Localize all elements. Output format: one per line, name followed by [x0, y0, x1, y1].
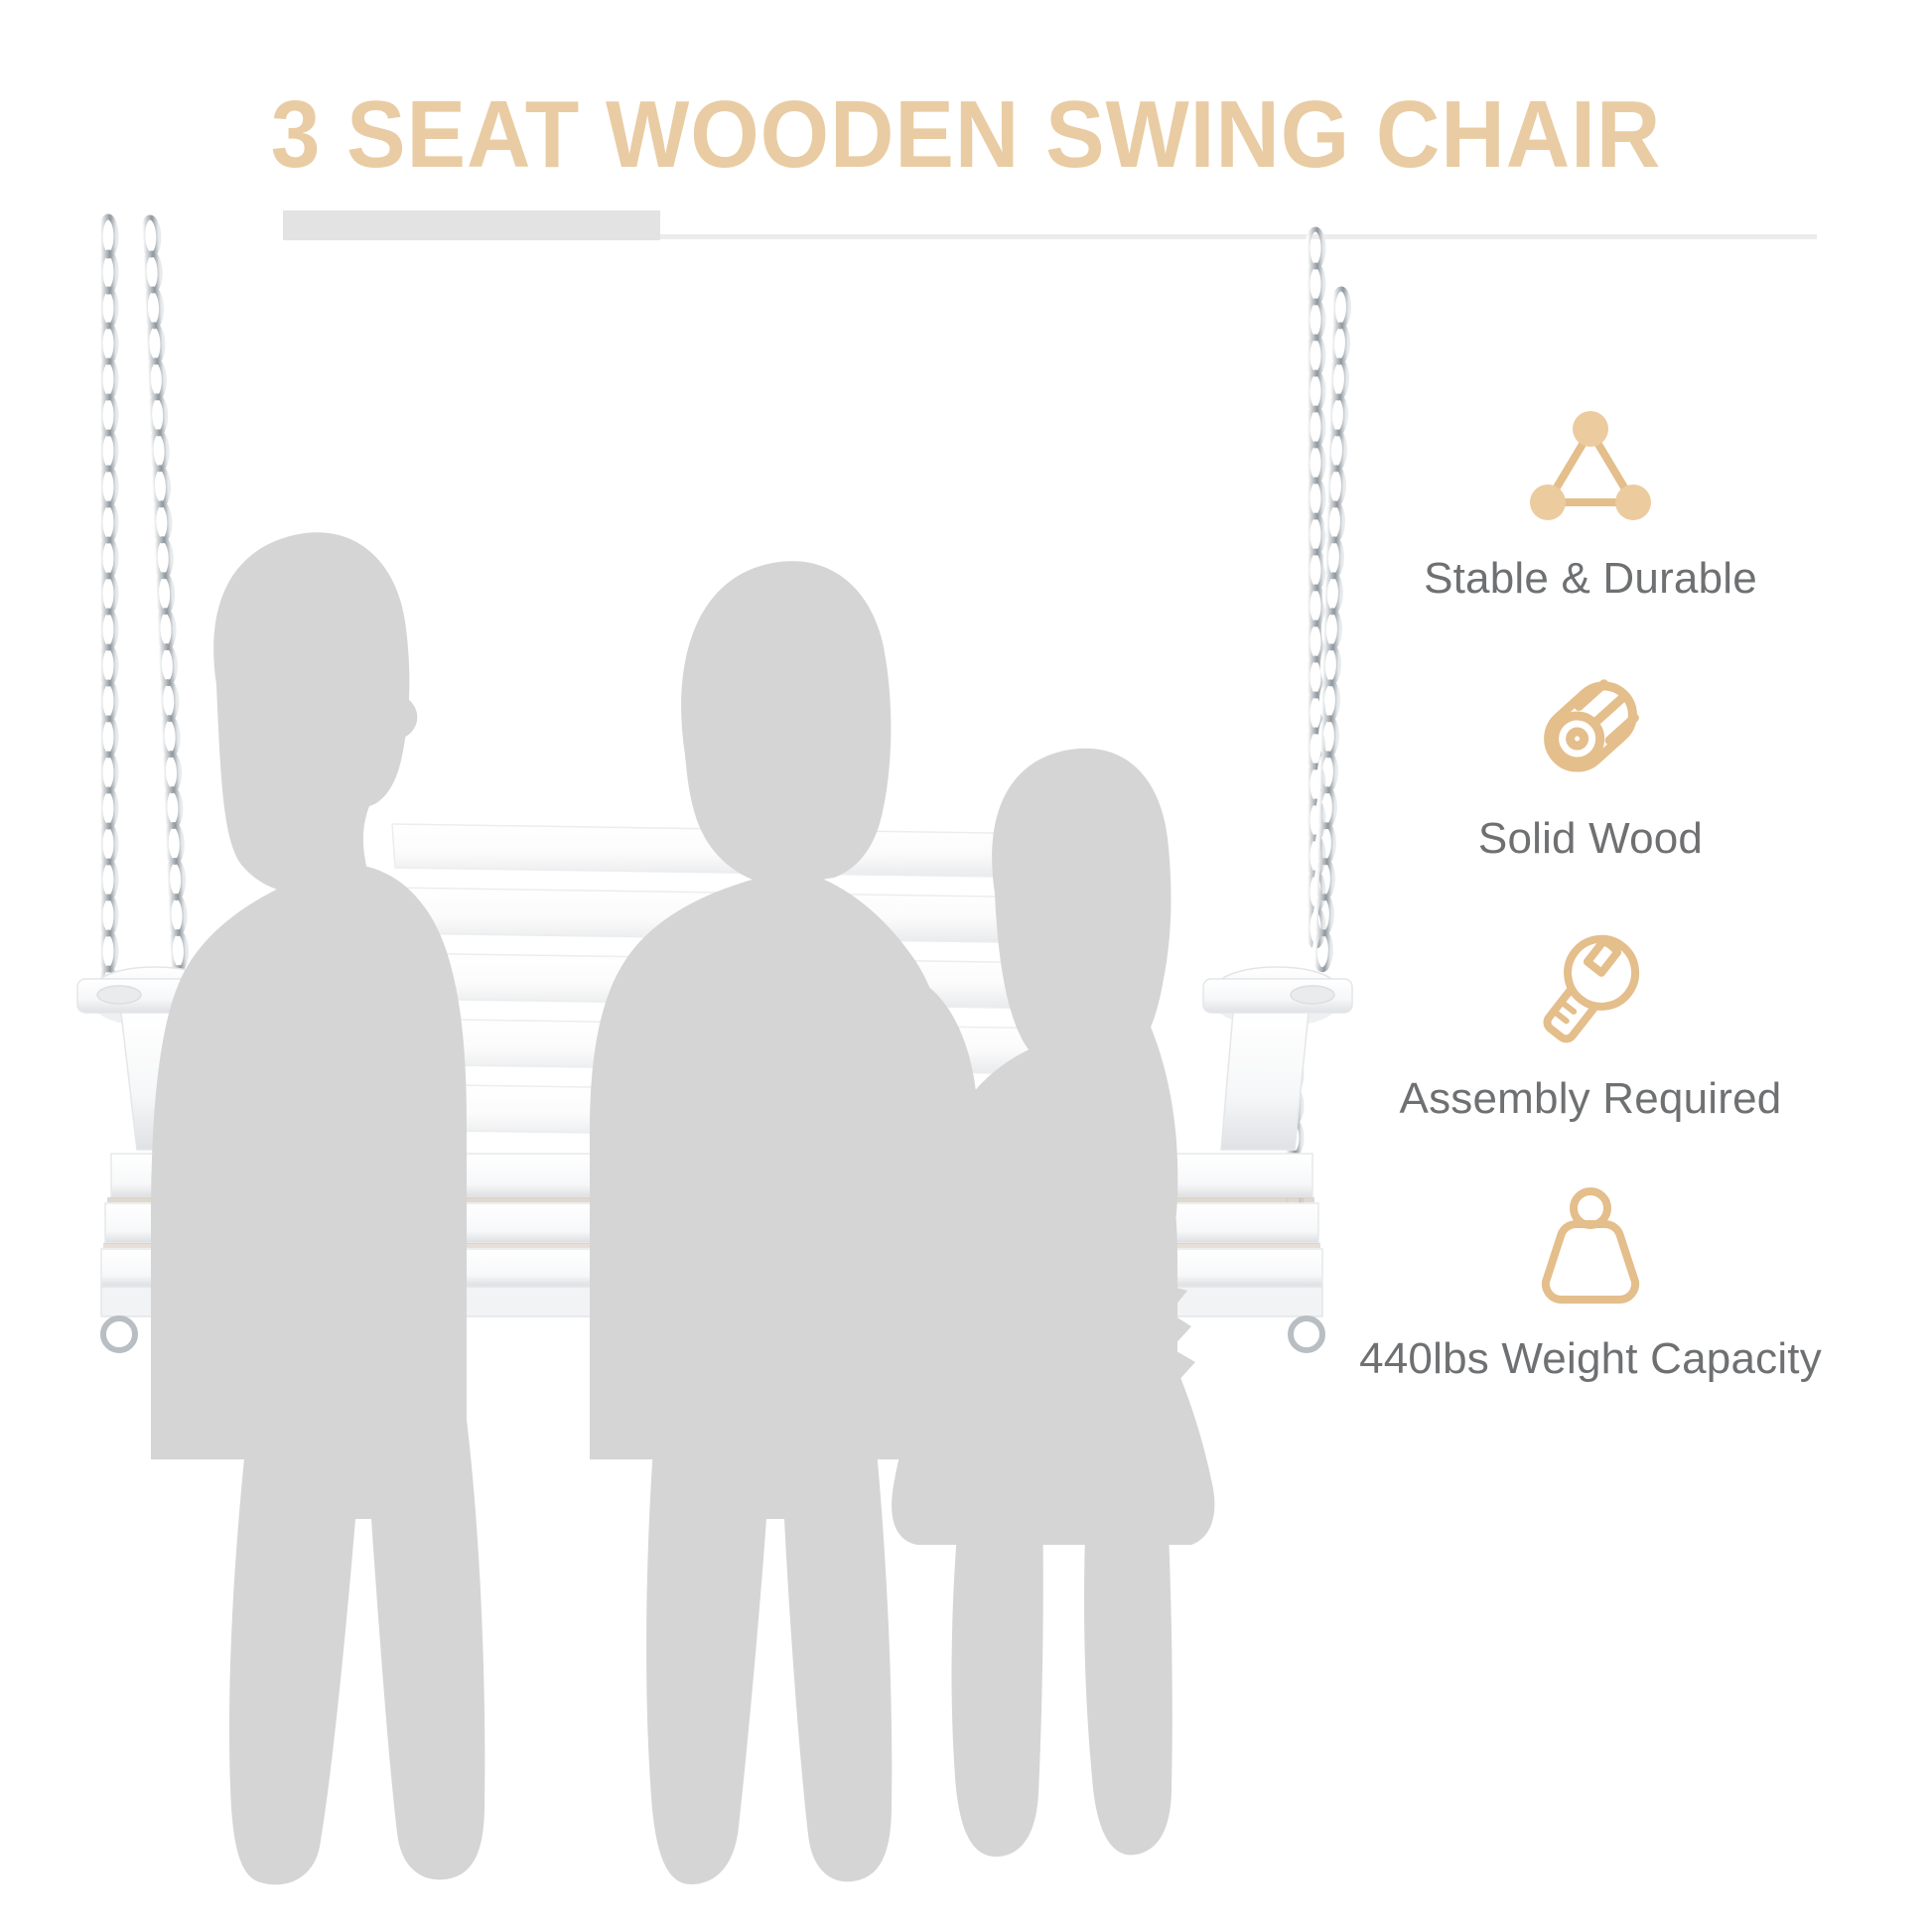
feature-label-solid-wood: Solid Wood — [1478, 814, 1703, 864]
feature-item-weight-capacity: 440lbs Weight Capacity — [1312, 1177, 1868, 1384]
feature-item-assembly-required: Assembly Required — [1312, 917, 1868, 1124]
silhouette-person-right — [892, 749, 1214, 1857]
silhouette-person-center — [590, 561, 978, 1884]
product-image — [0, 0, 1390, 1932]
people-silhouettes — [0, 0, 1390, 1932]
feature-label-stable-durable: Stable & Durable — [1424, 554, 1757, 604]
feature-item-stable-durable: Stable & Durable — [1312, 397, 1868, 604]
feature-label-assembly-required: Assembly Required — [1400, 1074, 1782, 1124]
weight-icon — [1521, 1177, 1660, 1316]
wood-log-icon — [1521, 657, 1660, 796]
product-marketing-page: 3 SEAT WOODEN SWING CHAIR — [0, 0, 1932, 1932]
triangle-nodes-icon — [1521, 397, 1660, 536]
silhouette-person-left — [151, 532, 484, 1884]
feature-list: Stable & Durable Solid Wood — [1312, 397, 1868, 1384]
feature-item-solid-wood: Solid Wood — [1312, 657, 1868, 864]
feature-label-weight-capacity: 440lbs Weight Capacity — [1359, 1334, 1822, 1384]
wrench-icon — [1521, 917, 1660, 1056]
